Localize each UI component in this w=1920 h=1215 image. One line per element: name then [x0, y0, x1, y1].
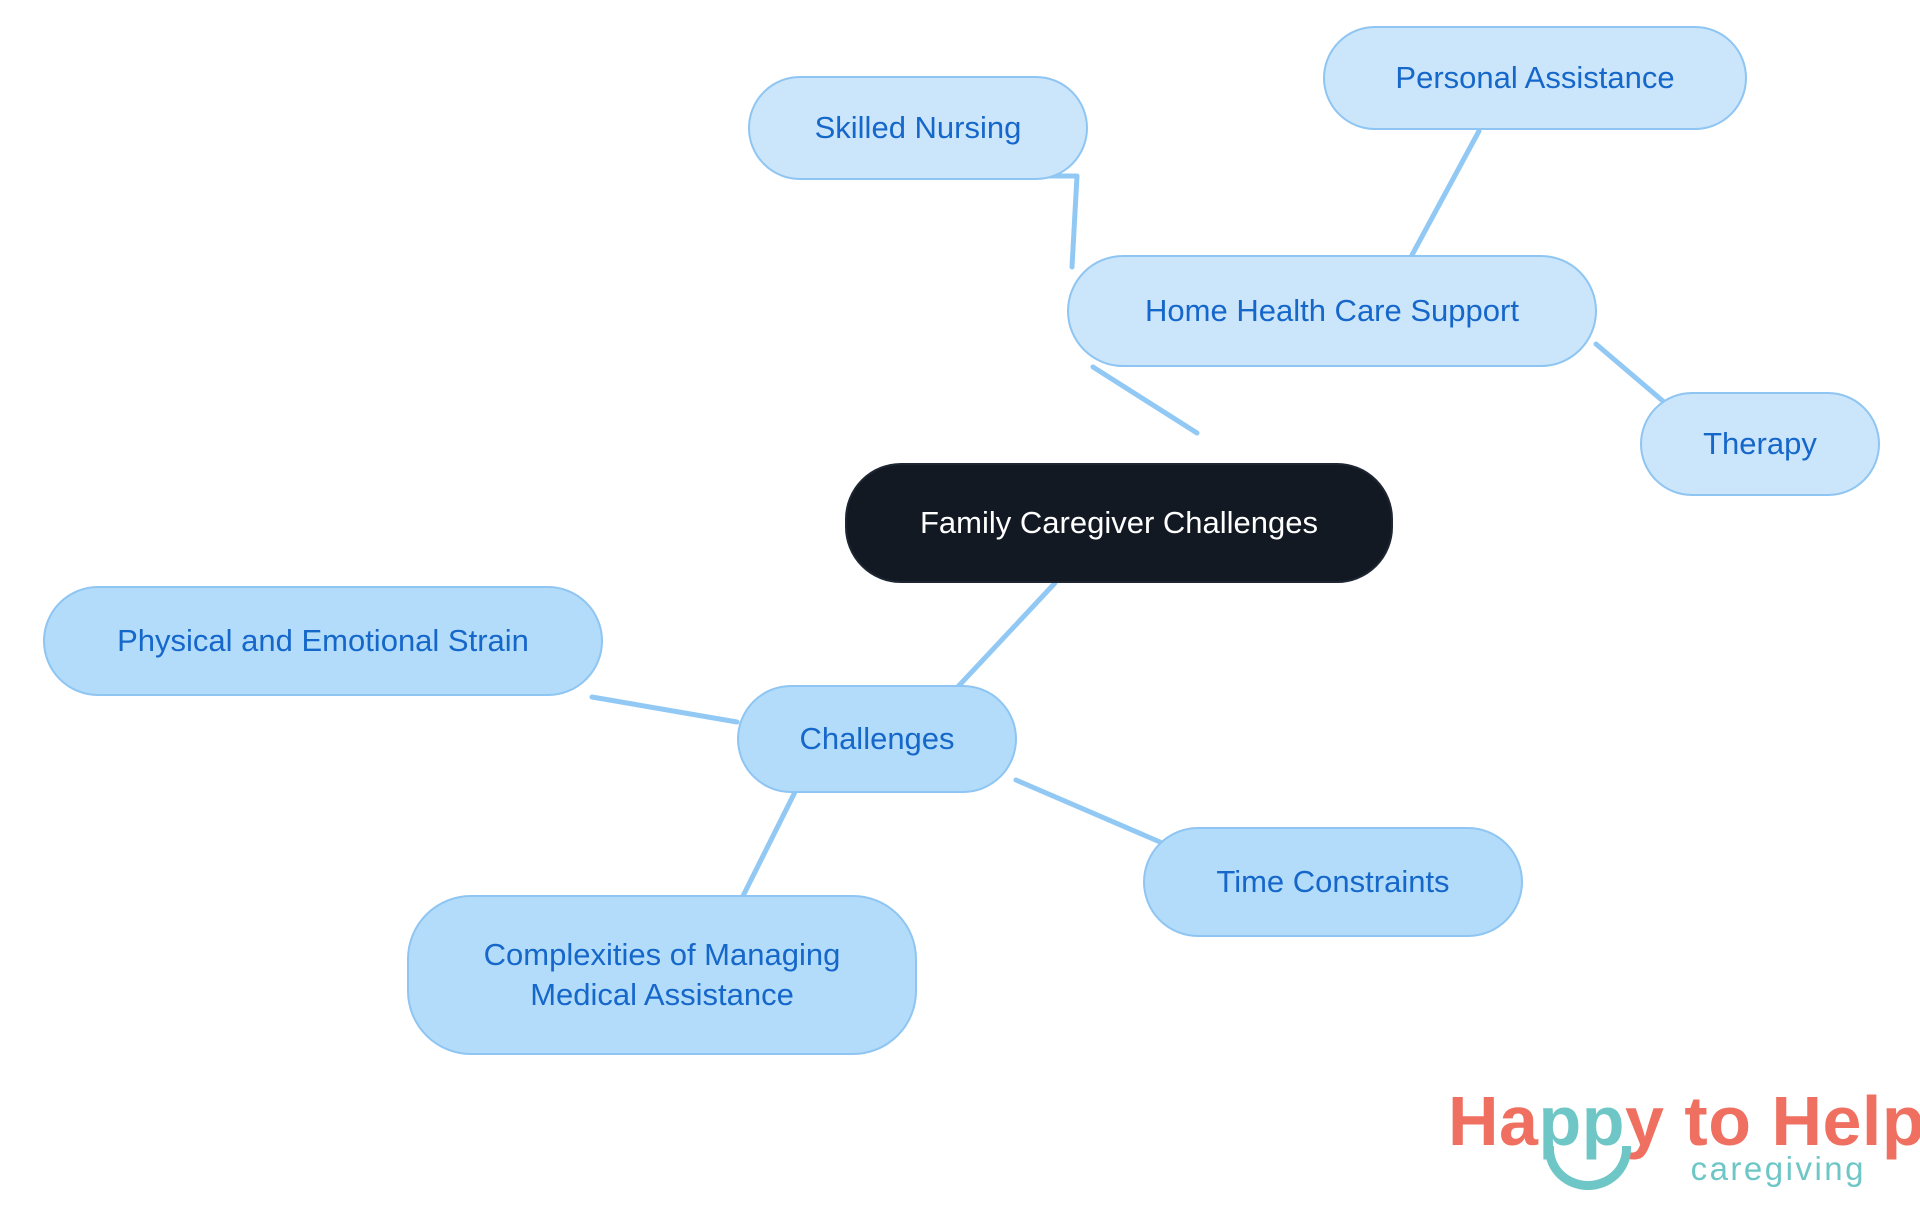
edge-home-health-care-support-skilled-nursing [1072, 176, 1077, 267]
mindmap-node-time-constraints[interactable]: Time Constraints [1143, 827, 1523, 937]
edge-challenges-time-constraints [1016, 780, 1160, 842]
happy-to-help-caregiving-logo: Happy to Help caregiving [1448, 1086, 1868, 1204]
edge-root-home-health-care-support [1093, 367, 1197, 433]
mindmap-node-therapy[interactable]: Therapy [1640, 392, 1880, 496]
logo-smile-icon [1545, 1146, 1631, 1190]
edge-root-challenges [953, 583, 1055, 692]
edge-challenges-complexities [741, 792, 795, 900]
mindmap-node-challenges-label: Challenges [799, 719, 954, 759]
logo-wordmark: Happy to Help [1448, 1086, 1920, 1156]
mindmap-node-physical-and-emotional-strain[interactable]: Physical and Emotional Strain [43, 586, 603, 696]
mindmap-node-home-health-care-support-label: Home Health Care Support [1145, 291, 1519, 331]
mindmap-node-physical-and-emotional-strain-label: Physical and Emotional Strain [117, 621, 529, 661]
logo-word-help: Help [1771, 1082, 1920, 1160]
logo-word-ha: Ha [1448, 1082, 1538, 1160]
mindmap-node-time-constraints-label: Time Constraints [1216, 862, 1449, 902]
mindmap-node-personal-assistance-label: Personal Assistance [1395, 58, 1674, 98]
mindmap-node-skilled-nursing-label: Skilled Nursing [815, 108, 1022, 148]
mindmap-node-therapy-label: Therapy [1703, 424, 1817, 464]
mindmap-node-challenges[interactable]: Challenges [737, 685, 1017, 793]
edge-home-health-care-support-personal-assistance [1412, 131, 1479, 255]
mindmap-node-home-health-care-support[interactable]: Home Health Care Support [1067, 255, 1597, 367]
mindmap-node-complexities-of-managing-medical-assistance-label: Complexities of Managing Medical Assista… [484, 935, 841, 1014]
edge-challenges-physical-and-emotional-strain [592, 697, 737, 722]
mindmap-node-personal-assistance[interactable]: Personal Assistance [1323, 26, 1747, 130]
edge-home-health-care-support-therapy [1596, 344, 1664, 402]
logo-word-to: to [1684, 1082, 1751, 1160]
logo-space-1 [1664, 1082, 1684, 1160]
mindmap-node-skilled-nursing[interactable]: Skilled Nursing [748, 76, 1088, 180]
logo-tagline: caregiving [1691, 1152, 1866, 1185]
mindmap-canvas: Family Caregiver Challenges Home Health … [0, 0, 1920, 1215]
mindmap-node-root[interactable]: Family Caregiver Challenges [845, 463, 1393, 583]
mindmap-node-root-label: Family Caregiver Challenges [920, 503, 1318, 543]
logo-space-2 [1751, 1082, 1771, 1160]
mindmap-node-complexities-of-managing-medical-assistance[interactable]: Complexities of Managing Medical Assista… [407, 895, 917, 1055]
